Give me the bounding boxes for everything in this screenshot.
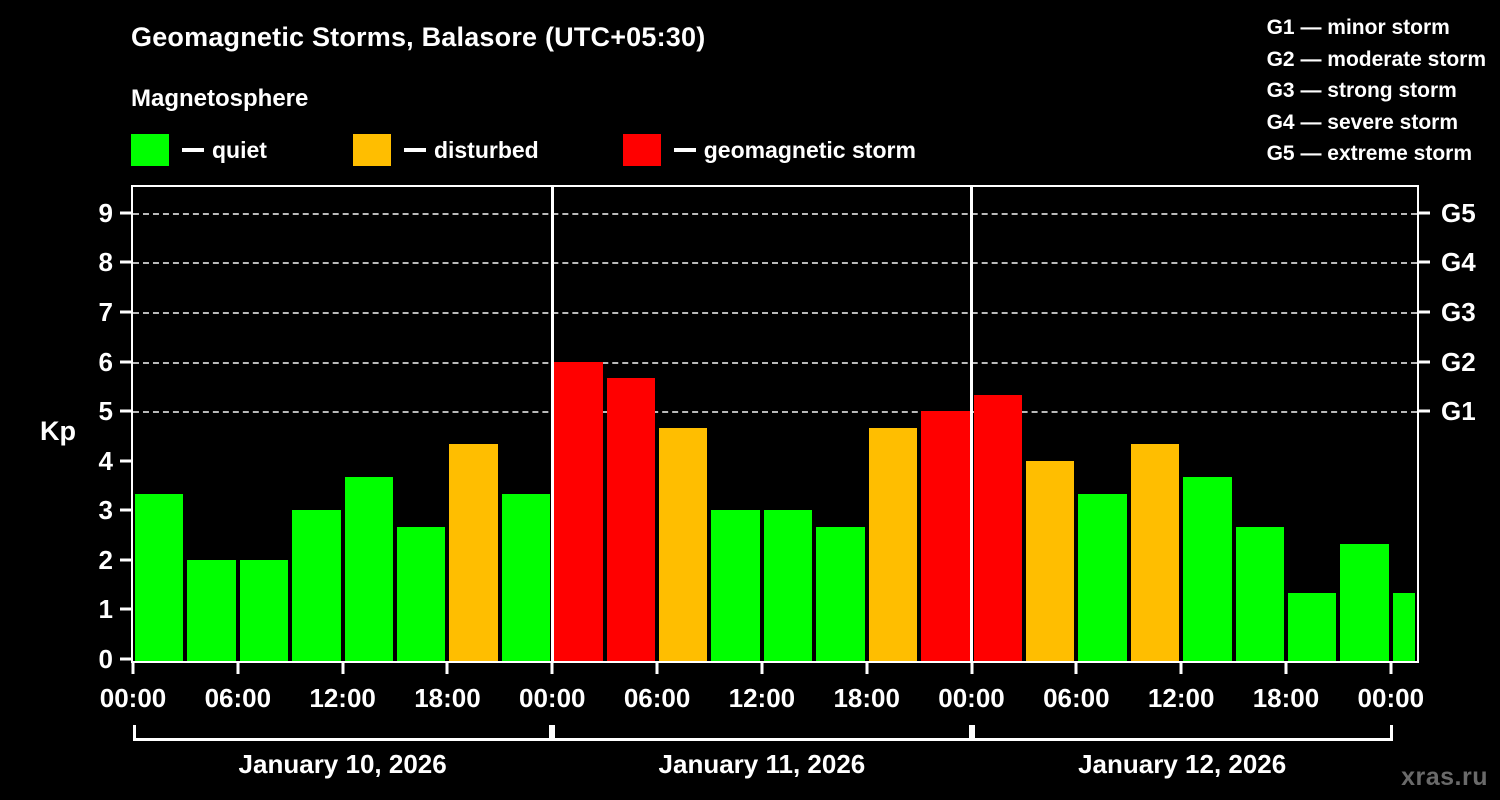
bar — [397, 527, 445, 661]
day-bracket — [552, 725, 971, 741]
x-axis-tick-label: 06:00 — [1043, 685, 1110, 711]
y-axis-tick-mark — [120, 310, 131, 313]
bar — [764, 510, 812, 661]
x-axis-tick-label: 12:00 — [309, 685, 376, 711]
y-axis-tick-mark — [120, 459, 131, 462]
bar — [711, 510, 759, 661]
bar — [1393, 593, 1415, 661]
x-axis-tick-mark — [341, 663, 344, 674]
legend-entry-disturbed: disturbed — [353, 133, 539, 167]
x-axis-tick-label: 06:00 — [205, 685, 272, 711]
bar — [1183, 477, 1231, 661]
g-axis-tick-mark — [1419, 360, 1430, 363]
y-axis-tick-label: 2 — [99, 547, 113, 573]
y-axis-tick-mark — [120, 261, 131, 264]
bar — [1078, 494, 1126, 661]
y-axis-tick-label: 5 — [99, 398, 113, 424]
legend-entry-storm: geomagnetic storm — [623, 133, 916, 167]
chart-title: Geomagnetic Storms, Balasore (UTC+05:30) — [131, 22, 705, 53]
legend-label-storm: geomagnetic storm — [704, 139, 916, 162]
day-label: January 12, 2026 — [1078, 751, 1286, 777]
x-axis-tick-label: 00:00 — [1358, 685, 1425, 711]
bar — [502, 494, 550, 661]
y-axis-tick-label: 3 — [99, 497, 113, 523]
bar — [135, 494, 183, 661]
y-axis-tick-label: 9 — [99, 200, 113, 226]
g-legend-row-g5: G5 — extreme storm — [1267, 138, 1486, 170]
x-axis-tick-label: 00:00 — [519, 685, 586, 711]
g-legend-row-g2: G2 — moderate storm — [1267, 44, 1486, 76]
x-axis-tick-mark — [132, 663, 135, 674]
y-axis-tick-mark — [120, 509, 131, 512]
x-axis-tick-label: 00:00 — [100, 685, 167, 711]
day-separator-line — [970, 187, 973, 661]
x-axis-tick-label: 18:00 — [833, 685, 900, 711]
x-axis-tick-mark — [760, 663, 763, 674]
magnetosphere-section-label: Magnetosphere — [131, 85, 308, 113]
legend-dash-icon — [404, 148, 426, 152]
bar — [187, 560, 235, 661]
x-axis-tick-mark — [865, 663, 868, 674]
watermark: xras.ru — [1401, 763, 1488, 792]
x-axis-tick-mark — [1284, 663, 1287, 674]
legend-swatch-quiet — [131, 134, 169, 166]
bar — [345, 477, 393, 661]
g-axis-tick-mark — [1419, 211, 1430, 214]
g-scale-legend: G1 — minor stormG2 — moderate stormG3 — … — [1267, 12, 1486, 170]
g-legend-row-g3: G3 — strong storm — [1267, 75, 1486, 107]
x-axis-tick-mark — [1075, 663, 1078, 674]
y-axis-tick-mark — [120, 658, 131, 661]
bar — [240, 560, 288, 661]
day-label: January 11, 2026 — [659, 751, 866, 777]
y-axis-tick-mark — [120, 558, 131, 561]
day-bracket — [133, 725, 552, 741]
bar — [921, 411, 969, 661]
y-axis-title: Kp — [40, 416, 76, 447]
g-axis-tick-label: G1 — [1441, 398, 1476, 424]
y-axis-tick-label: 0 — [99, 646, 113, 672]
legend-dash-icon — [674, 148, 696, 152]
g-axis-tick-mark — [1419, 261, 1430, 264]
y-axis-tick-label: 4 — [99, 448, 113, 474]
bar — [292, 510, 340, 661]
gridline-kp-6 — [133, 362, 1417, 364]
legend-dash-icon — [182, 148, 204, 152]
y-axis-tick-label: 8 — [99, 249, 113, 275]
y-axis-tick-label: 7 — [99, 299, 113, 325]
y-axis-tick-mark — [120, 360, 131, 363]
bar — [974, 395, 1022, 661]
color-legend: quietdisturbedgeomagnetic storm — [131, 133, 916, 167]
y-axis-tick-mark — [120, 211, 131, 214]
x-axis-tick-label: 00:00 — [938, 685, 1005, 711]
x-axis-tick-mark — [1389, 663, 1392, 674]
g-axis-tick-mark — [1419, 410, 1430, 413]
x-axis-tick-mark — [551, 663, 554, 674]
bar — [449, 444, 497, 661]
x-axis-tick-label: 12:00 — [729, 685, 796, 711]
plot-inner — [133, 187, 1417, 661]
g-axis-tick-mark — [1419, 310, 1430, 313]
plot-area — [131, 185, 1419, 663]
y-axis-tick-label: 1 — [99, 596, 113, 622]
bar — [869, 428, 917, 662]
x-axis-tick-label: 06:00 — [624, 685, 691, 711]
x-axis-tick-label: 12:00 — [1148, 685, 1215, 711]
bar — [1340, 544, 1388, 662]
g-legend-row-g1: G1 — minor storm — [1267, 12, 1486, 44]
x-axis-tick-label: 18:00 — [414, 685, 481, 711]
gridline-kp-9 — [133, 213, 1417, 215]
y-axis-tick-mark — [120, 608, 131, 611]
chart-root: Geomagnetic Storms, Balasore (UTC+05:30)… — [0, 0, 1500, 800]
x-axis-tick-mark — [446, 663, 449, 674]
g-legend-row-g4: G4 — severe storm — [1267, 107, 1486, 139]
g-axis-tick-label: G5 — [1441, 200, 1476, 226]
day-label: January 10, 2026 — [239, 751, 447, 777]
bar — [1236, 527, 1284, 661]
legend-label-disturbed: disturbed — [434, 139, 539, 162]
gridline-kp-7 — [133, 312, 1417, 314]
g-axis-tick-label: G3 — [1441, 299, 1476, 325]
x-axis-tick-label: 18:00 — [1253, 685, 1320, 711]
bar — [1131, 444, 1179, 661]
bar — [607, 378, 655, 661]
bar — [554, 362, 602, 661]
x-axis-tick-mark — [236, 663, 239, 674]
legend-label-quiet: quiet — [212, 139, 267, 162]
g-axis-tick-label: G4 — [1441, 249, 1476, 275]
gridline-kp-8 — [133, 262, 1417, 264]
x-axis-tick-mark — [970, 663, 973, 674]
legend-swatch-disturbed — [353, 134, 391, 166]
x-axis-tick-mark — [656, 663, 659, 674]
y-axis-tick-mark — [120, 410, 131, 413]
legend-entry-quiet: quiet — [131, 133, 267, 167]
bar — [1288, 593, 1336, 661]
day-bracket — [972, 725, 1393, 741]
bar — [816, 527, 864, 661]
y-axis-tick-label: 6 — [99, 349, 113, 375]
bar — [1026, 461, 1074, 661]
gridline-kp-5 — [133, 411, 1417, 413]
g-axis-tick-label: G2 — [1441, 349, 1476, 375]
bar — [659, 428, 707, 662]
day-separator-line — [551, 187, 554, 661]
x-axis-tick-mark — [1180, 663, 1183, 674]
legend-swatch-storm — [623, 134, 661, 166]
